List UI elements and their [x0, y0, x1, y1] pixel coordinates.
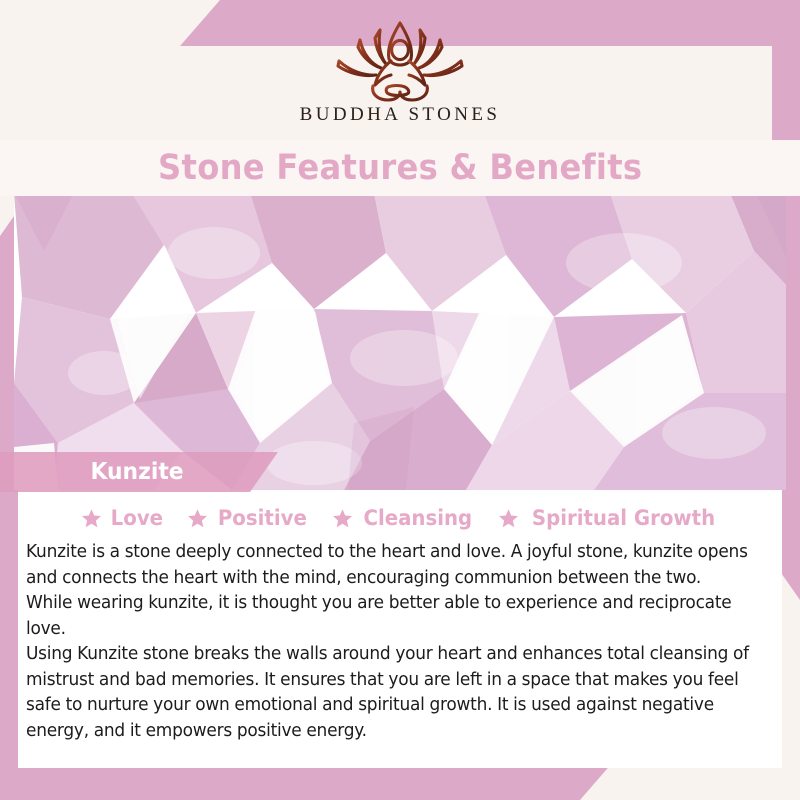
feature-tag-label: Spiritual Growth	[531, 506, 714, 530]
feature-tag-label: Positive	[218, 506, 307, 530]
star-icon	[498, 508, 519, 529]
page-title: Stone Features & Benefits	[158, 148, 642, 188]
content-card: Love Positive Cleansing	[18, 490, 782, 768]
title-band: Stone Features & Benefits	[0, 140, 800, 196]
feature-tag-love: Love	[81, 506, 165, 530]
description-paragraph-2: Using Kunzite stone breaks the walls aro…	[26, 642, 750, 744]
stone-name-banner: Kunzite	[0, 452, 278, 492]
kunzite-stones-illustration	[14, 193, 786, 490]
lotus-meditation-icon	[325, 14, 475, 106]
feature-tag-label: Cleansing	[363, 506, 472, 530]
feature-tag-spiritual-growth: Spiritual Growth	[498, 506, 721, 530]
brand-logo: BUDDHA STONES	[0, 14, 800, 142]
description-paragraph-1: Kunzite is a stone deeply connected to t…	[26, 540, 750, 642]
infographic-page: BUDDHA STONES Stone Features & Benefits	[0, 0, 800, 800]
brand-name: BUDDHA STONES	[300, 104, 501, 126]
stone-name-text: Kunzite	[90, 459, 183, 485]
star-icon	[332, 508, 353, 529]
star-icon	[81, 508, 102, 529]
stone-photo	[14, 193, 786, 490]
star-icon	[187, 508, 208, 529]
feature-tag-cleansing: Cleansing	[332, 506, 476, 530]
feature-tag-label: Love	[111, 506, 163, 530]
feature-tag-positive: Positive	[187, 506, 310, 530]
feature-tag-list: Love Positive Cleansing	[26, 506, 776, 530]
